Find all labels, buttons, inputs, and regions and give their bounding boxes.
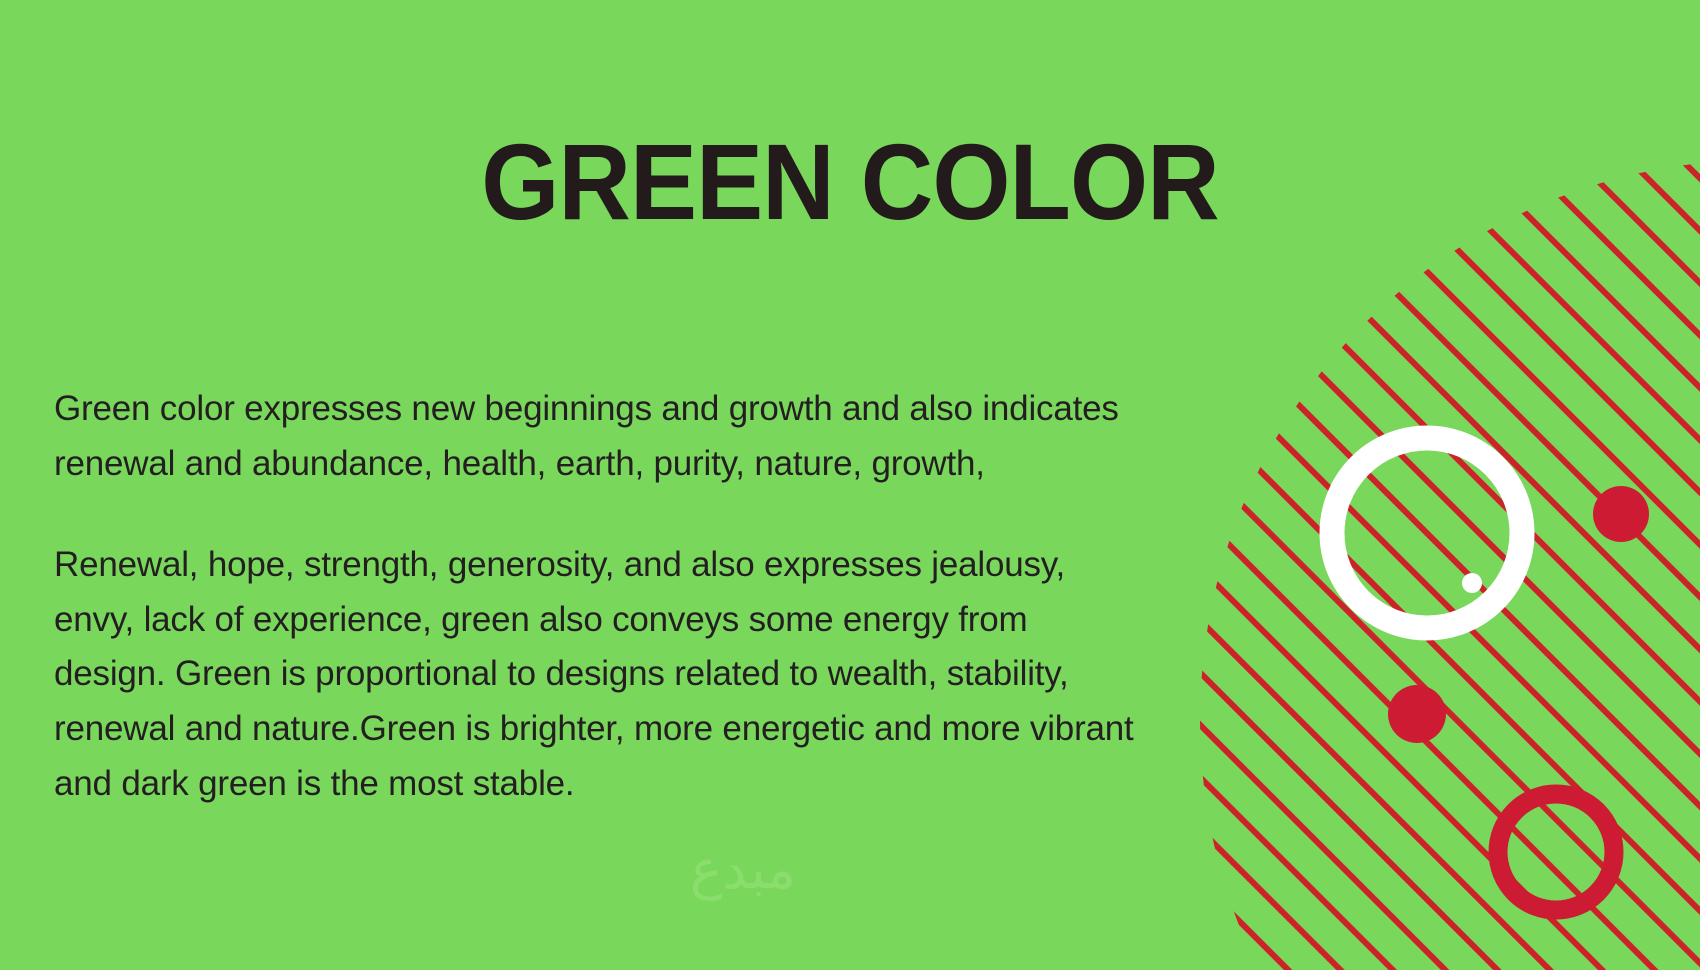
red-dot-lower-shape [1388, 685, 1446, 743]
paragraph-two: Renewal, hope, strength, generosity, and… [54, 538, 1144, 811]
watermark-text: مبدع [690, 838, 796, 901]
slide-canvas: GREEN COLOR Green color expresses new be… [0, 0, 1700, 970]
body-copy-block: Green color expresses new beginnings and… [54, 382, 1144, 811]
white-ring-shape [1332, 438, 1522, 628]
page-title: GREEN COLOR [60, 128, 1641, 236]
red-ring-shape [1498, 794, 1614, 910]
red-dot-upper-shape [1593, 486, 1649, 542]
paragraph-one: Green color expresses new beginnings and… [54, 382, 1144, 491]
white-dot-shape [1462, 573, 1482, 593]
